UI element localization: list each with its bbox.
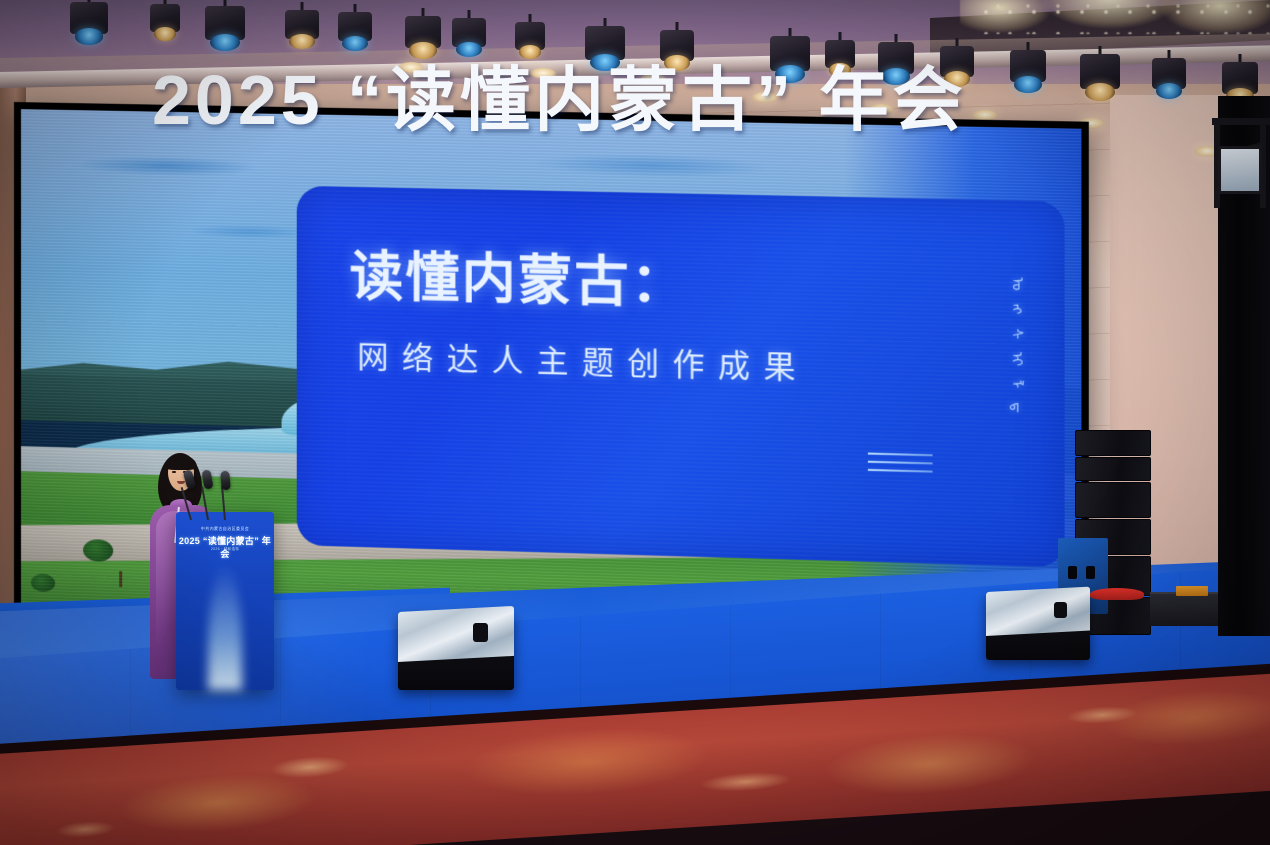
stage-light-fixture (70, 0, 108, 40)
light-lens (154, 27, 177, 41)
stage-light-fixture (1152, 50, 1186, 94)
stage-light-fixture (1222, 54, 1258, 100)
stage-light-fixture (150, 0, 180, 36)
monitor-handle-hole (1054, 602, 1068, 618)
presenter-fringe (165, 455, 197, 470)
subwoofer-port (1086, 566, 1095, 579)
slide-subtitle: 网络达人主题创作成果 (357, 331, 809, 388)
deco-line-2 (868, 461, 933, 465)
slide-title: 读懂内蒙古： (350, 234, 688, 318)
stage-light-fixture (205, 0, 245, 46)
side-display-panel (1218, 146, 1262, 194)
stage-light-fixture (285, 2, 319, 44)
mongolian-glyph-5: ᠯ (1005, 380, 1030, 389)
podium-supertitle: 中共内蒙古自治区委员会 (176, 526, 274, 532)
stage-light-fixture (338, 4, 372, 46)
monitor-top-face (986, 587, 1090, 636)
presenter-eye-left (172, 471, 176, 473)
line-array-box (1075, 482, 1151, 518)
stage-monitor-wedge (398, 612, 514, 690)
monitor-handle-hole (473, 623, 488, 642)
stage-monitor-wedge (986, 592, 1090, 660)
mongolian-glyph-4: ᠢ (1005, 352, 1030, 367)
subwoofer-port (1068, 566, 1077, 579)
microphone-head[interactable] (220, 471, 231, 491)
slide-title-panel: 读懂内蒙古： 网络达人主题创作成果 ᠤᠩᠰᠢᠯᠳ (297, 186, 1065, 568)
mongolian-script-column: ᠤᠩᠰᠢᠯᠳ (1005, 277, 1030, 413)
stage-scene: 读懂内蒙古： 网络达人主题创作成果 ᠤᠩᠰᠢᠯᠳ 2025 (0, 0, 1270, 845)
mongolian-glyph-3: ᠰ (1005, 328, 1030, 339)
chandelier-beads (980, 0, 1270, 34)
slide-decorative-lines (868, 453, 933, 479)
deco-line-1 (868, 453, 933, 457)
stage-banner-text: 2025 “读懂内蒙古” 年会 (152, 44, 967, 145)
stage-light-fixture (1080, 46, 1120, 96)
light-lens (75, 28, 104, 45)
light-lens (1014, 76, 1041, 93)
line-array-box (1075, 430, 1151, 456)
mongolian-glyph-6: ᠳ (1005, 402, 1030, 413)
mongolian-glyph-1: ᠤ (1005, 277, 1030, 291)
deco-line-3 (868, 469, 933, 473)
stage-light-fixture (1010, 42, 1046, 88)
light-lens (1085, 83, 1115, 101)
mongolian-glyph-2: ᠩ (1005, 304, 1030, 315)
red-cloth (1090, 588, 1144, 600)
photo-tree-trunk (119, 571, 122, 587)
podium-subtitle: 2025 · 呼和浩特 (176, 547, 274, 552)
road-case-label (1176, 586, 1208, 596)
podium-light-glow (208, 564, 242, 690)
monitor-top-face (398, 606, 514, 662)
line-array-box (1075, 457, 1151, 481)
podium: 中共内蒙古自治区委员会 2025 “读懂内蒙古” 年会 2025 · 呼和浩特 (176, 512, 274, 690)
light-lens (1156, 83, 1182, 99)
